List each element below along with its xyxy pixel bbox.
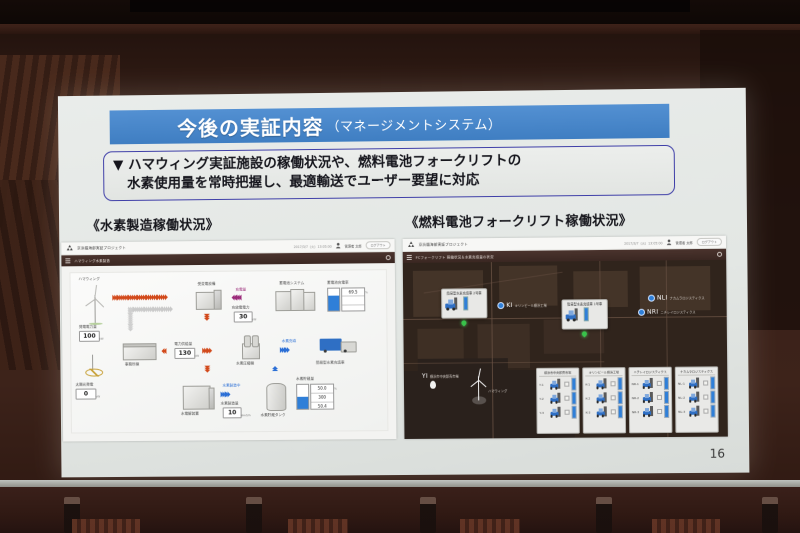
readout-wind-power-unit: kW — [99, 337, 104, 341]
substation-icon — [196, 290, 222, 310]
bullet-text-1: ハマウィング実証施設の稼働状況や、燃料電池フォークリフトの — [128, 153, 521, 173]
flow-to-compressor — [202, 348, 211, 354]
forklift-status-app: 京浜臨海部実証プロジェクト 2017/3/7（火）13:05:00 管理者 太郎… — [403, 236, 728, 439]
hamburger-icon[interactable] — [407, 255, 412, 260]
mitsubishi-logo-icon — [407, 241, 416, 249]
forklift-icon — [565, 308, 582, 321]
status-code: Y-3 — [539, 410, 547, 414]
map-marker-dot-icon — [638, 309, 645, 316]
status-fill-bar — [617, 377, 622, 390]
node-label-substation: 受変電設備 — [198, 282, 216, 287]
gear-icon[interactable] — [386, 255, 391, 260]
gauge-tank-value: 50.0 — [311, 385, 333, 394]
gauge-battery-unit: % — [365, 290, 368, 294]
readout-solar-unit: kW — [95, 394, 100, 398]
status-row: Y-2 — [539, 392, 576, 405]
map-popup-filling-truck-1[interactable]: 簡易型水素充填車 1号車 — [561, 299, 608, 329]
gauge-battery-row2 — [342, 297, 364, 306]
left-app-topbar-title: 京浜臨海部実証プロジェクト — [77, 245, 126, 250]
status-row: Y-3 — [539, 406, 576, 419]
forklift-icon — [549, 379, 563, 390]
status-card-kirin[interactable]: キリンビール横浜工場 K-1 K-2 — [582, 367, 626, 434]
facility-map[interactable]: 簡易型水素充填車 2号車 簡易型水素充填車 1号車 — [403, 260, 728, 439]
readout-charge-caption: 充放電電力 — [232, 305, 250, 310]
slide-subtitle: （マネージメントシステム） — [326, 113, 501, 134]
status-indicator — [657, 395, 662, 400]
solar-icon — [83, 353, 105, 379]
map-popup-1-title: 簡易型水素充填車 1号車 — [565, 302, 605, 306]
right-app-username: 管理者 太郎 — [676, 240, 693, 245]
stage-desk — [460, 519, 520, 533]
status-card-yokohama[interactable]: 横浜市中央卸売市場 Y-1 Y-2 — [536, 368, 580, 434]
bullet-marker-icon: ▼ — [113, 157, 124, 173]
user-icon — [667, 239, 672, 245]
gauge-battery-row3 — [342, 305, 364, 313]
map-wind-turbine-icon — [468, 368, 490, 402]
map-marker-nli[interactable]: NLI ナカムラロジスティクス — [648, 294, 705, 302]
tank-icon — [266, 383, 286, 411]
flow-idle-horizontal — [128, 306, 171, 312]
stage-speaker — [762, 497, 778, 533]
building-icon — [123, 342, 157, 360]
wind-turbine-icon — [82, 285, 108, 325]
wood-panel-left-lower — [0, 180, 60, 370]
fill-bar — [584, 307, 589, 321]
flow-idle-vertical — [127, 308, 133, 330]
map-marker-yi-name: 横浜市中央卸売市場 — [430, 374, 459, 379]
map-popup-filling-truck-2[interactable]: 簡易型水素充填車 2号車 — [441, 288, 487, 318]
status-fill-bar — [571, 406, 576, 419]
status-indicator — [564, 382, 569, 387]
status-fill-bar — [710, 405, 715, 418]
status-indicator — [611, 395, 616, 400]
readout-h2flow-caption: 水素製造量 — [221, 401, 239, 406]
flow-substation-to-battery — [233, 295, 242, 301]
readout-charge-power: 30 — [234, 311, 253, 322]
readout-charge-power-value: 30 — [239, 314, 247, 320]
gauge-tank-table: 50.0 300 50.4 — [310, 384, 334, 410]
projected-slide: 今後の実証内容 （マネージメントシステム） ▼ ハマウィング実証施設の稼働状況や… — [58, 88, 750, 478]
mitsubishi-logo-icon — [65, 244, 74, 252]
map-marker-nri-name: ニチレイロジスティクス — [660, 309, 695, 314]
readout-h2flow-unit: Nm3/h — [241, 413, 251, 417]
flow-wind-to-substation — [112, 294, 166, 300]
hamburger-icon[interactable] — [65, 258, 70, 263]
flow-supply-to-warehouse — [162, 348, 166, 354]
stage-area — [0, 487, 800, 533]
status-code: NL-3 — [678, 409, 686, 413]
node-label-electrolyzer: 水電解装置 — [181, 412, 199, 417]
status-fill-bar — [617, 405, 622, 418]
forklift-icon — [595, 392, 609, 403]
stage-desk — [652, 519, 720, 533]
status-indicator — [657, 409, 662, 414]
map-popup-1-body — [565, 307, 605, 321]
status-indicator — [565, 410, 570, 415]
left-app-username: 管理者 太郎 — [345, 243, 362, 248]
node-label-battery: 蓄電池システム — [279, 281, 304, 286]
ceiling-edge — [0, 24, 800, 34]
readout-wind-power-caption: 発電電力量 — [79, 325, 97, 330]
map-pin-yi[interactable] — [430, 381, 436, 389]
right-app-topbar-right: 2017/3/7（火）13:05:00 管理者 太郎 ログアウト — [624, 238, 722, 247]
gauge-battery-value: 69.5 — [342, 288, 364, 297]
map-marker-ki-code: KI — [506, 302, 512, 309]
status-code: NR-3 — [632, 410, 640, 414]
status-fill-bar — [663, 377, 668, 390]
forklift-icon — [641, 392, 655, 403]
stage-speaker — [596, 497, 612, 533]
status-row: NL-1 — [678, 376, 715, 389]
right-app-page-title: FCフォークリフト 稼働状況＆水素充填量の状況 — [416, 254, 494, 260]
map-marker-nri-code: NRI — [647, 309, 658, 316]
forklift-icon — [687, 378, 701, 389]
forklift-icon — [641, 406, 655, 417]
slide-title-bar: 今後の実証内容 （マネージメントシステム） — [110, 104, 670, 145]
status-row: NL-3 — [678, 405, 715, 418]
flow-substation-down — [204, 314, 210, 319]
map-marker-nli-name: ナカムラロジスティクス — [670, 295, 705, 300]
slide-page-number: 16 — [710, 447, 726, 461]
status-row: Y-1 — [539, 378, 576, 391]
readout-charge-unit: kW — [252, 317, 257, 321]
status-card-nichirei[interactable]: ニチレイロジスティクス NR-1 NR-2 — [628, 367, 672, 434]
node-label-truck: 簡易型水素充填車 — [316, 360, 345, 365]
gauge-tank-level — [296, 384, 309, 410]
status-fill-bar — [664, 405, 669, 418]
stage-desk — [288, 519, 348, 533]
flow-tank-up — [272, 367, 278, 371]
status-fill-bar — [710, 376, 715, 389]
gauge-tank-caption: 水素貯蔵量 — [296, 377, 314, 382]
readout-supply-power-value: 130 — [179, 350, 192, 356]
forklift-icon — [688, 392, 702, 403]
status-row: K-1 — [585, 377, 622, 390]
gauge-tank-row3: 50.4 — [311, 403, 333, 411]
forklift-icon — [688, 406, 702, 417]
map-marker-ki-name: キリンビール横浜工場 — [515, 303, 547, 308]
status-code: NL-2 — [678, 395, 686, 399]
status-indicator — [657, 381, 662, 386]
forklift-icon — [549, 393, 563, 404]
status-card-nakamura[interactable]: ナカムラロジスティクス NL-1 NL-2 — [675, 366, 719, 433]
stage-desk — [72, 519, 140, 533]
flow-electrolyzer-out — [221, 391, 230, 397]
truck-icon — [320, 336, 360, 356]
status-indicator — [611, 409, 616, 414]
map-marker-ki[interactable]: KI キリンビール横浜工場 — [497, 302, 546, 309]
left-app-titlebar: ハマウィング水素製造 — [61, 252, 394, 266]
map-marker-nri[interactable]: NRI ニチレイロジスティクス — [638, 308, 696, 316]
readout-h2-flow-value: 10 — [228, 410, 236, 416]
status-card-yokohama-title: 横浜市中央卸売市場 — [539, 371, 576, 377]
slide-title: 今後の実証内容 — [177, 110, 324, 141]
node-label-warehouse: 事務所棟 — [125, 362, 139, 367]
readout-supply-power: 130 — [174, 348, 195, 359]
hydrogen-flow-diagram: ハマウィング 100 発電電力量 kW 太陽光発電 0 — [69, 269, 388, 433]
status-card-nichirei-title: ニチレイロジスティクス — [632, 370, 669, 376]
map-marker-nli-code: NLI — [657, 295, 668, 302]
gear-icon[interactable] — [717, 252, 722, 257]
flow-to-electrolyzer — [204, 366, 210, 371]
left-app-timestamp: 2017/3/7（火）13:05:00 — [294, 243, 332, 248]
section-label-right: 《燃料電池フォークリフト稼働状況》 — [405, 210, 632, 231]
status-row: K-3 — [586, 405, 623, 418]
readout-wind-power: 100 — [79, 331, 100, 342]
status-fill-bar — [571, 378, 576, 391]
node-label-wind: ハマウィング — [78, 277, 99, 282]
flow-label-producing: 水素製造中 — [222, 383, 240, 388]
map-wind-label: ハマウィング — [488, 388, 507, 393]
ceiling-beam-secondary — [130, 0, 690, 12]
right-app-logout-button[interactable]: ログアウト — [697, 238, 722, 246]
status-code: NR-2 — [632, 396, 640, 400]
status-row: NR-3 — [632, 405, 669, 418]
hydrogen-production-app: 京浜臨海部実証プロジェクト 2017/3/7（火）13:05:00 管理者 太郎… — [61, 239, 396, 441]
user-icon — [336, 243, 341, 249]
fill-bar — [463, 296, 468, 310]
gauge-battery-caption: 蓄電池充電率 — [327, 281, 349, 286]
status-indicator — [611, 381, 616, 386]
status-indicator — [703, 380, 708, 385]
left-app-page-title: ハマウィング水素製造 — [74, 258, 110, 263]
map-marker-dot-icon — [648, 295, 655, 302]
node-label-compressor: 水素圧縮機 — [236, 361, 254, 366]
left-app-topbar-right: 2017/3/7（火）13:05:00 管理者 太郎 ログアウト — [294, 241, 391, 250]
forklift-icon — [595, 406, 609, 417]
status-fill-bar — [571, 392, 576, 405]
status-code: Y-2 — [539, 396, 547, 400]
status-code: NR-1 — [632, 382, 640, 386]
battery-system-icon — [275, 289, 315, 311]
status-card-kirin-title: キリンビール横浜工場 — [585, 370, 622, 376]
stage-speaker — [246, 497, 262, 533]
status-indicator — [703, 409, 708, 414]
status-indicator — [564, 396, 569, 401]
map-popup-2-title: 簡易型水素充填車 2号車 — [444, 291, 484, 295]
status-code: K-3 — [586, 410, 594, 414]
gauge-battery-fill — [328, 295, 339, 310]
right-app-topbar-title: 京浜臨海部実証プロジェクト — [419, 242, 468, 248]
gauge-battery-table: 69.5 — [341, 287, 365, 311]
readout-supply-caption: 電力供給量 — [174, 342, 192, 347]
map-marker-yi[interactable]: YI 横浜市中央卸売市場 — [422, 373, 459, 380]
status-row: NR-2 — [632, 391, 669, 404]
readout-h2-flow: 10 — [223, 407, 242, 418]
flow-h2-to-truck — [280, 347, 289, 353]
status-row: NL-2 — [678, 390, 715, 403]
forklift-icon — [549, 407, 563, 418]
status-code: NL-1 — [678, 381, 686, 385]
status-fill-bar — [663, 391, 668, 404]
status-code: K-2 — [586, 396, 594, 400]
gauge-battery-soc — [327, 288, 340, 312]
stage-speaker — [420, 497, 436, 533]
forklift-icon — [641, 378, 655, 389]
readout-solar-caption: 太陽光発電 — [75, 383, 93, 388]
status-code: Y-1 — [539, 382, 547, 386]
map-popup-2-body — [444, 296, 484, 310]
status-row: NR-1 — [632, 377, 669, 390]
readout-supply-unit: kW — [194, 354, 199, 358]
status-row: K-2 — [585, 391, 622, 404]
forklift-icon — [595, 378, 609, 389]
left-app-logout-button[interactable]: ログアウト — [366, 241, 391, 249]
forklift-icon — [444, 297, 461, 310]
bullet-callout-box: ▼ ハマウィング実証施設の稼働状況や、燃料電池フォークリフトの 水素使用量を常時… — [103, 145, 675, 201]
map-marker-yi-code: YI — [422, 373, 428, 380]
status-fill-bar — [710, 390, 715, 403]
readout-solar-power: 0 — [76, 389, 97, 400]
status-code: K-1 — [585, 382, 593, 386]
flow-label-h2-fill: 水素充填 — [282, 339, 296, 344]
electrolyzer-icon — [183, 386, 215, 410]
readout-wind-power-value: 100 — [83, 333, 95, 339]
readout-solar-power-value: 0 — [84, 391, 88, 397]
map-marker-dot-icon — [497, 302, 504, 309]
right-app-timestamp: 2017/3/7（火）13:05:00 — [624, 240, 662, 245]
gauge-tank-unit: % — [334, 387, 337, 391]
status-card-nakamura-title: ナカムラロジスティクス — [678, 369, 715, 375]
node-label-tank: 水素貯蔵タンク — [261, 413, 286, 418]
status-fill-bar — [617, 391, 622, 404]
gauge-tank-fill — [297, 397, 308, 409]
flow-label-charge: 充電量 — [235, 287, 246, 292]
compressor-icon — [240, 335, 262, 359]
gauge-tank-row2: 300 — [311, 394, 333, 403]
status-indicator — [703, 395, 708, 400]
section-label-left: 《水素製造稼働状況》 — [87, 214, 219, 234]
